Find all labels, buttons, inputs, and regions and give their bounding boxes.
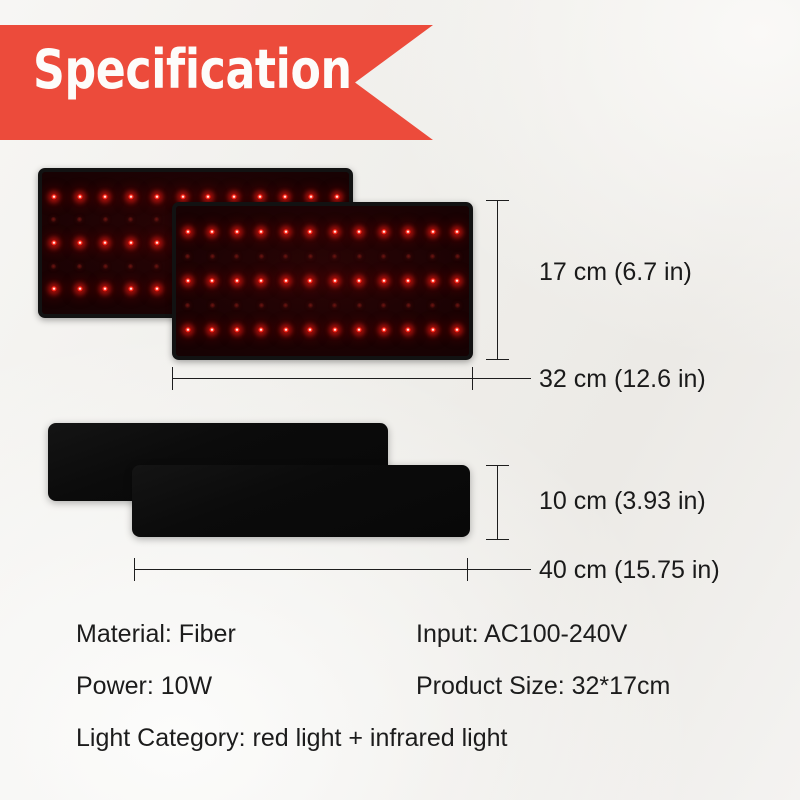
dimension-line-height-strip: [497, 465, 498, 540]
spec-input: Input: AC100-240V: [416, 620, 627, 649]
dimension-label-width-panel: 32 cm (12.6 in): [539, 365, 706, 394]
led-row-red: [51, 191, 340, 202]
spec-power: Power: 10W: [76, 672, 212, 701]
led-row-red: [185, 276, 460, 287]
led-row-infrared: [185, 300, 460, 311]
led-grid-front: [176, 206, 469, 356]
dimension-leader-width-panel: [473, 378, 531, 379]
spec-light-category: Light Category: red light + infrared lig…: [76, 724, 508, 753]
dimension-line-width-panel: [172, 378, 473, 379]
spec-material: Material: Fiber: [76, 620, 236, 649]
led-panel-front: [172, 202, 473, 360]
dimension-label-width-strip: 40 cm (15.75 in): [539, 556, 720, 585]
specification-page: Specification: [0, 0, 800, 800]
specification-text-block: Material: Fiber Input: AC100-240V Power:…: [0, 608, 800, 758]
dimension-leader-width-strip: [468, 569, 531, 570]
led-row-red: [185, 227, 460, 238]
led-row-infrared: [185, 251, 460, 262]
spec-product-size: Product Size: 32*17cm: [416, 672, 670, 701]
panel-back-side-lower: [132, 465, 470, 537]
dimension-line-height-panel: [497, 200, 498, 360]
dimension-label-height-panel: 17 cm (6.7 in): [539, 258, 692, 287]
page-title: Specification: [33, 42, 352, 98]
led-row-red: [185, 325, 460, 336]
dimension-line-width-strip: [134, 569, 468, 570]
dimension-label-height-strip: 10 cm (3.93 in): [539, 487, 706, 516]
